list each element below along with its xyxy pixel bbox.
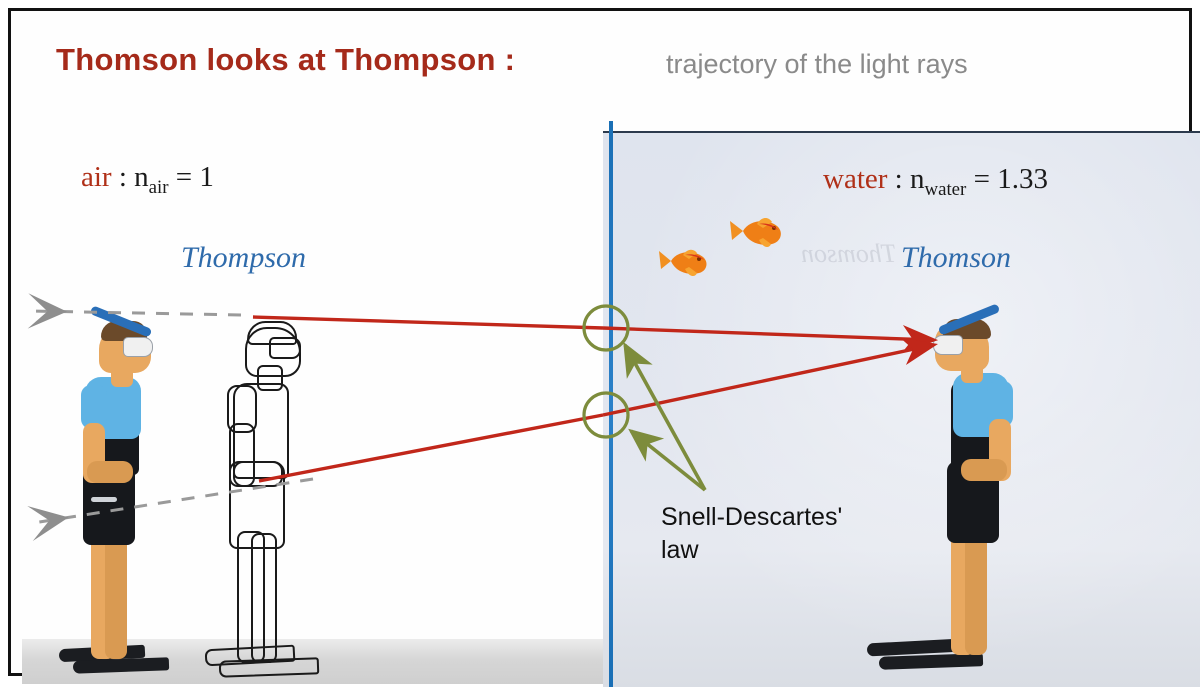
hands-water bbox=[961, 459, 1007, 481]
water-index-label: water : nwater = 1.33 bbox=[823, 163, 1048, 201]
page-subtitle: trajectory of the light rays bbox=[666, 49, 968, 80]
air-equals: = bbox=[169, 161, 200, 193]
diagram-canvas: Thomson Thomson looks at Thompson : traj… bbox=[0, 0, 1200, 685]
air-value: 1 bbox=[199, 161, 214, 193]
fish-2 bbox=[729, 209, 793, 253]
leg-front-water bbox=[965, 531, 987, 655]
water-medium-name: water bbox=[823, 163, 887, 195]
label-observer-water: Thomson bbox=[901, 241, 1011, 275]
snell-line-1: Snell-Descartes' bbox=[661, 501, 891, 534]
mask-outline bbox=[269, 337, 301, 359]
hands-outline bbox=[233, 461, 283, 487]
diver-real-water bbox=[909, 311, 1059, 686]
air-separator: : bbox=[112, 161, 135, 193]
air-water-interface-line bbox=[609, 121, 613, 687]
fin-front bbox=[73, 657, 169, 673]
dive-mask bbox=[123, 337, 153, 357]
air-symbol: n bbox=[134, 161, 149, 193]
fin-front-water bbox=[879, 653, 983, 670]
snell-descartes-callout: Snell-Descartes' law bbox=[661, 501, 891, 567]
water-region bbox=[603, 131, 1200, 687]
leg-front bbox=[105, 533, 127, 659]
watermark-text: Thomson bbox=[801, 239, 896, 269]
water-separator: : bbox=[887, 163, 910, 195]
air-subscript: air bbox=[149, 177, 169, 198]
air-medium-name: air bbox=[81, 161, 112, 193]
leg-front-outline bbox=[251, 533, 277, 663]
water-symbol: n bbox=[910, 163, 925, 195]
air-index-label: air : nair = 1 bbox=[81, 161, 214, 199]
shorts-stripe bbox=[91, 497, 117, 502]
diver-virtual-image bbox=[217, 311, 357, 686]
fish-1 bbox=[659, 239, 719, 283]
diagram-frame: Thomson Thomson looks at Thompson : traj… bbox=[8, 8, 1192, 676]
diver-real-air bbox=[71, 311, 211, 686]
water-sheen bbox=[603, 133, 1200, 687]
page-title: Thomson looks at Thompson : bbox=[56, 42, 515, 78]
dive-mask-water bbox=[933, 335, 963, 355]
water-value: 1.33 bbox=[997, 163, 1048, 195]
hands bbox=[87, 461, 133, 483]
snell-line-2: law bbox=[661, 534, 891, 567]
water-subscript: water bbox=[924, 179, 966, 200]
label-observer-air: Thompson bbox=[181, 241, 306, 275]
water-equals: = bbox=[966, 163, 997, 195]
